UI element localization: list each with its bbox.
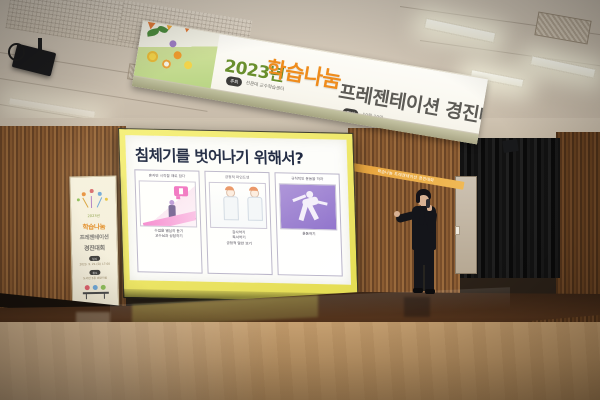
- standing-banner-line2: 프레젠테이션: [80, 233, 109, 242]
- microphone-icon: [426, 199, 430, 208]
- projection-screen: 침체기를 벗어나기 위해서? 혼자만 시작할 때로 잡다: [118, 128, 359, 303]
- floor-light-reflection: [0, 322, 600, 400]
- slide-column: 규칙적인 운동을 하자 운동하기: [274, 172, 342, 276]
- screenshot-root: 2023년 학습나눔 프레젠테이션 경진대회 주최 선문대 교수학습센터 일시 …: [0, 0, 600, 400]
- standing-banner-date-text: 2023. 9. 21.(목) 17:00: [79, 262, 110, 267]
- slide-column-caption: 감사하기 독서하기 긍정적 말만 보기: [226, 230, 252, 247]
- standing-banner-year: 2023년: [87, 214, 100, 219]
- wall-wood-panel-far-right: [556, 132, 600, 322]
- presenter-shoe-left: [413, 288, 423, 293]
- presenter-shoe-right: [425, 289, 435, 294]
- standing-banner-place-text: 도서관 5층 대강의실: [83, 276, 107, 281]
- wall-speaker: [502, 139, 519, 153]
- presenter: [396, 189, 456, 301]
- slide-columns: 혼자만 시작할 때로 잡다 수업을 열심히 듣기 교수님과 상담하기: [134, 169, 342, 276]
- slide-column-caption: 운동하기: [302, 231, 315, 237]
- flower-icon: [146, 50, 159, 63]
- bench-illustration: [82, 285, 108, 300]
- bunting-flag-icon: [146, 20, 157, 30]
- caption-line: 긍정적 말만 보기: [226, 241, 252, 247]
- slide-column: 혼자만 시작할 때로 잡다 수업을 열심히 듣기 교수님과 상담하기: [134, 169, 202, 273]
- two-people-illustration: [209, 182, 267, 229]
- stage-door[interactable]: [455, 176, 477, 274]
- standing-banner-place-pill: 장소: [89, 270, 100, 275]
- slide-title: 침체기를 벗어나기 위해서?: [134, 143, 338, 169]
- flower-icon: [183, 61, 192, 70]
- slide-column-caption: 수업을 열심히 듣기 교수님과 상담하기: [154, 228, 183, 240]
- standing-banner-artwork: [70, 181, 116, 212]
- flower-icon: [169, 40, 177, 48]
- running-figure-silhouette: [279, 183, 337, 230]
- presenter-hand-extended: [394, 211, 400, 217]
- projector-lens-ring: [8, 43, 25, 61]
- presenter-leg-gap: [423, 265, 425, 291]
- flower-icon: [173, 51, 182, 60]
- presenter-hair-side: [416, 194, 420, 203]
- caption-line: 운동하기: [302, 231, 315, 237]
- person-question-illustration: [139, 180, 197, 227]
- standing-banner-line1: 학습나눔: [82, 221, 105, 231]
- standing-banner-date-pill: 일시: [89, 256, 100, 261]
- slide-column: 긍정적 마인드셋 감사하기 독서하기 긍정적 말만 보기: [204, 171, 272, 275]
- standing-banner-line3: 경진대회: [84, 243, 105, 252]
- presentation-slide: 침체기를 벗어나기 위해서? 혼자만 시작할 때로 잡다: [125, 135, 351, 285]
- flower-icon: [161, 59, 171, 69]
- caption-line: 교수님과 상담하기: [154, 234, 183, 240]
